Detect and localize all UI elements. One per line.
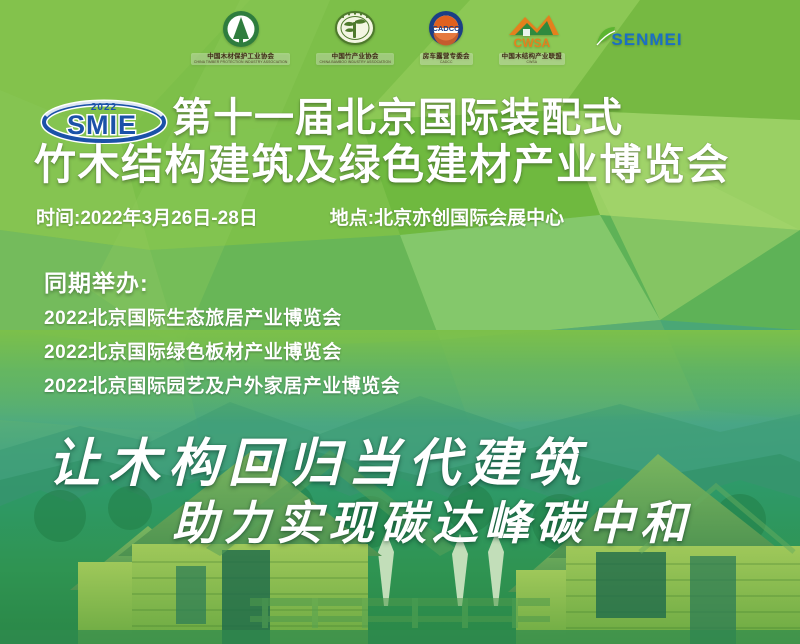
page-title-line-1: 第十一届北京国际装配式 <box>172 96 623 140</box>
exhibition-poster: 中国木材保护工业协会 CHINA TIMBER PROTECTION INDUS… <box>0 0 800 644</box>
sponsor-name-cn: 中国木材保护工业协会 <box>207 53 274 60</box>
list-item: 2022北京国际生态旅居产业博览会 <box>44 302 744 336</box>
smie-logo: 2022 SMIE <box>40 94 168 144</box>
list-item: 2022北京国际绿色板材产业博览会 <box>44 336 744 370</box>
list-item: 2022北京国际园艺及户外家居产业博览会 <box>44 370 744 404</box>
smie-logo-icon: 2022 SMIE <box>40 94 168 144</box>
event-venue: 地点:北京亦创国际会展中心 <box>330 203 564 230</box>
sponsor-name-cn: 中国木结构产业联盟 <box>502 53 562 60</box>
cadcc-abbr: CADCC <box>433 24 461 33</box>
leaf-wordmark-icon: SENMEI <box>591 21 687 53</box>
house-roof-icon: CWSA <box>501 9 563 51</box>
cwsa-abbr: CWSA <box>513 36 550 50</box>
sponsor-name-en: CWSA <box>502 61 562 65</box>
senmei-abbr: SENMEI <box>611 30 682 49</box>
slogan-primary: 让木构回归当代建筑 <box>48 421 588 496</box>
sponsor-logo-senmei[interactable]: SENMEI <box>591 21 687 53</box>
sponsor-name-en: CHINA BAMBOO INDUSTRY ASSOCIATION <box>319 61 390 65</box>
slogan-secondary: 助力实现碳达峰碳中和 <box>172 487 692 553</box>
smie-wordmark: SMIE <box>67 110 137 140</box>
concurrent-events-heading: 同期举办: <box>44 264 149 298</box>
event-meta: 时间:2022年3月26日-28日 地点:北京亦创国际会展中心 <box>36 203 776 230</box>
cadcc-roundel-icon: CADCC <box>422 9 470 51</box>
concurrent-events-list: 2022北京国际生态旅居产业博览会 2022北京国际绿色板材产业博览会 2022… <box>44 302 744 404</box>
sponsor-logo-cwsa[interactable]: CWSA 中国木结构产业联盟 CWSA <box>499 9 565 65</box>
sponsor-name-cn: 房车露营专委会 <box>423 53 470 60</box>
sponsor-name-cn: 中国竹产业协会 <box>332 53 379 60</box>
sponsor-logo-china-timber-protection[interactable]: 中国木材保护工业协会 CHINA TIMBER PROTECTION INDUS… <box>191 9 290 65</box>
sponsor-logo-strip: 中国木材保护工业协会 CHINA TIMBER PROTECTION INDUS… <box>0 0 800 74</box>
page-title-line-2: 竹木结构建筑及绿色建材产业博览会 <box>34 142 730 188</box>
sponsor-logo-cadcc[interactable]: CADCC 房车露营专委会 CADCC <box>420 9 473 65</box>
sponsor-name-en: CADCC <box>423 61 470 65</box>
event-date: 时间:2022年3月26日-28日 <box>36 203 258 230</box>
pine-tree-shield-icon <box>215 9 267 51</box>
bamboo-seal-icon <box>330 9 380 51</box>
sponsor-name-en: CHINA TIMBER PROTECTION INDUSTRY ASSOCIA… <box>194 61 287 65</box>
sponsor-logo-bamboo-association[interactable]: 中国竹产业协会 CHINA BAMBOO INDUSTRY ASSOCIATIO… <box>316 9 393 65</box>
